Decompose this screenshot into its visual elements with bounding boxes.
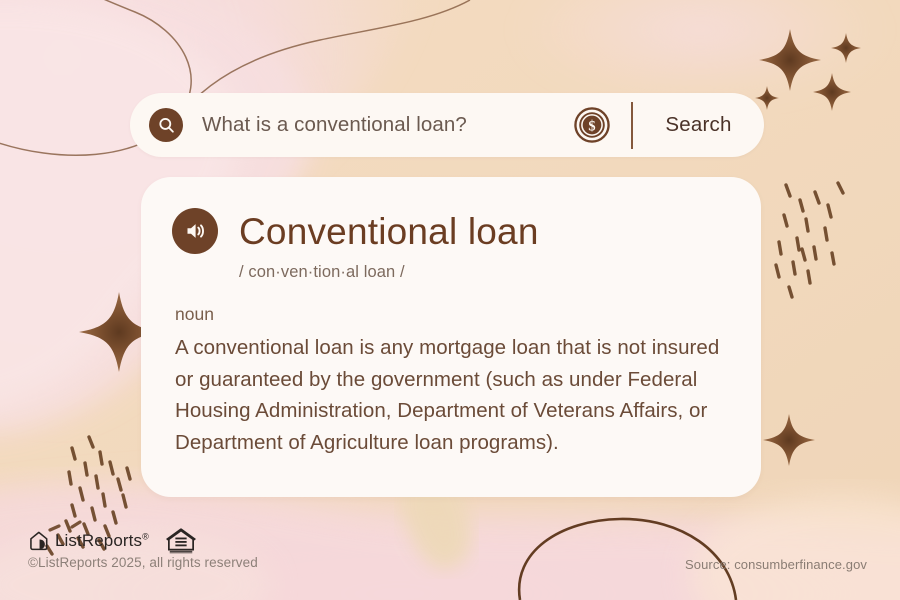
dollar-coin-icon[interactable]: $	[574, 107, 610, 143]
brand-registered-mark: ®	[142, 531, 149, 541]
term-title: Conventional loan	[239, 213, 539, 250]
definition-card: Conventional loan / con·ven·tion·al loan…	[141, 177, 761, 497]
listreports-house-icon	[28, 530, 50, 552]
search-divider	[631, 102, 633, 149]
search-input[interactable]: What is a conventional loan?	[202, 113, 574, 137]
definition-text: A conventional loan is any mortgage loan…	[175, 332, 727, 458]
search-button[interactable]: Search	[633, 113, 764, 137]
speaker-icon[interactable]	[172, 208, 218, 254]
footer: ListReports® ©ListReports 2025, all righ…	[0, 520, 900, 600]
search-bar[interactable]: What is a conventional loan? $ Search	[130, 93, 764, 157]
brand-name: ListReports®	[55, 531, 149, 551]
definition-header: Conventional loan	[141, 177, 761, 254]
copyright-text: ©ListReports 2025, all rights reserved	[28, 555, 258, 570]
phonetic-spelling: / con·ven·tion·al loan /	[239, 263, 761, 282]
svg-text:$: $	[589, 119, 596, 135]
brand-logo: ListReports®	[28, 528, 196, 554]
brand-label: ListReports	[55, 531, 142, 550]
source-attribution: Source: consumberfinance.gov	[685, 557, 867, 572]
search-icon[interactable]	[149, 108, 183, 142]
equal-housing-opportunity-icon	[166, 528, 196, 554]
part-of-speech: noun	[175, 304, 761, 325]
